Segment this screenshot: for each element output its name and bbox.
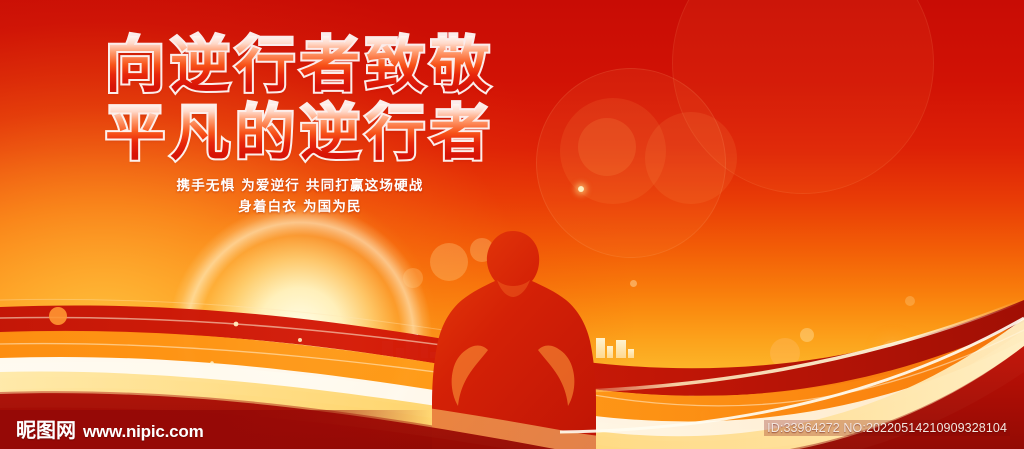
site-url[interactable]: www.nipic.com <box>83 423 204 440</box>
ribbon-glint <box>234 322 239 327</box>
title-line-1-wrap: 向逆行者致敬 向逆行者致敬 <box>0 36 600 98</box>
title-line-2: 平凡的逆行者 <box>0 104 600 166</box>
poster-canvas: 向逆行者致敬 向逆行者致敬 平凡的逆行者 平凡的逆行者 携手无惧 为爱逆行 共同… <box>0 0 1024 449</box>
headline-block: 向逆行者致敬 向逆行者致敬 平凡的逆行者 平凡的逆行者 携手无惧 为爱逆行 共同… <box>0 36 600 217</box>
title-line-2-wrap: 平凡的逆行者 平凡的逆行者 <box>0 104 600 166</box>
site-watermark[interactable]: 昵图网 www.nipic.com <box>16 421 204 441</box>
ribbon-glint <box>298 338 302 342</box>
subtitle-line-1: 携手无惧 为爱逆行 共同打赢这场硬战 <box>0 176 600 197</box>
ribbon-glint <box>49 307 67 325</box>
ribbon-glint <box>210 361 214 365</box>
title-line-1: 向逆行者致敬 <box>0 36 600 98</box>
asset-id-label: ID:33964272 NO:20220514210909328104 <box>764 420 1010 436</box>
subtitle-line-2: 身着白衣 为国为民 <box>0 197 600 218</box>
site-name-cn: 昵图网 <box>16 421 76 441</box>
